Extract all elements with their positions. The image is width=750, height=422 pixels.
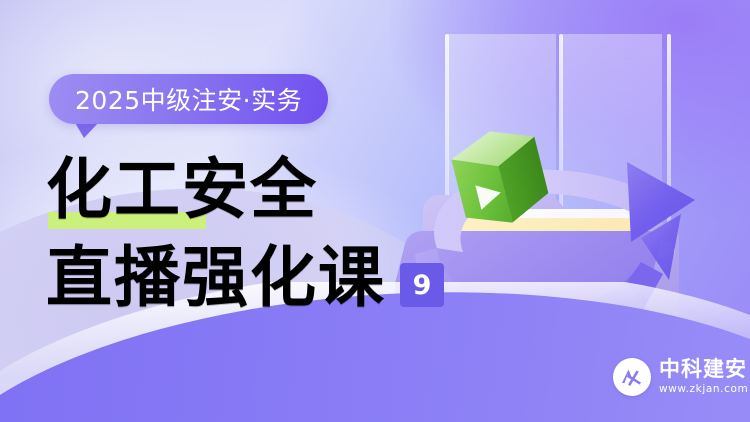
course-title-line1: 化工安全 [46, 150, 466, 228]
brand-name: 中科建安 [659, 359, 748, 380]
course-title-block: 化工安全 直播强化课 9 [46, 150, 466, 316]
course-title-line2: 直播强化课 [46, 238, 386, 316]
course-title-line2-row: 直播强化课 9 [46, 236, 466, 316]
brand-url: www.zkjan.com [659, 384, 748, 395]
course-banner: 2025中级注安·实务 化工安全 直播强化课 9 中科建安 www.zkjan.… [0, 0, 750, 422]
course-category-badge: 2025中级注安·实务 [49, 74, 328, 124]
brand-logo[interactable]: 中科建安 www.zkjan.com [613, 358, 748, 396]
course-title-line1-row: 化工安全 [46, 150, 466, 228]
brand-logo-text: 中科建安 www.zkjan.com [659, 359, 748, 395]
episode-number: 9 [413, 272, 432, 299]
episode-badge: 9 [400, 263, 444, 307]
zkjan-circle-logo-icon [613, 358, 651, 396]
course-category-label: 2025中级注安·实务 [75, 81, 302, 117]
